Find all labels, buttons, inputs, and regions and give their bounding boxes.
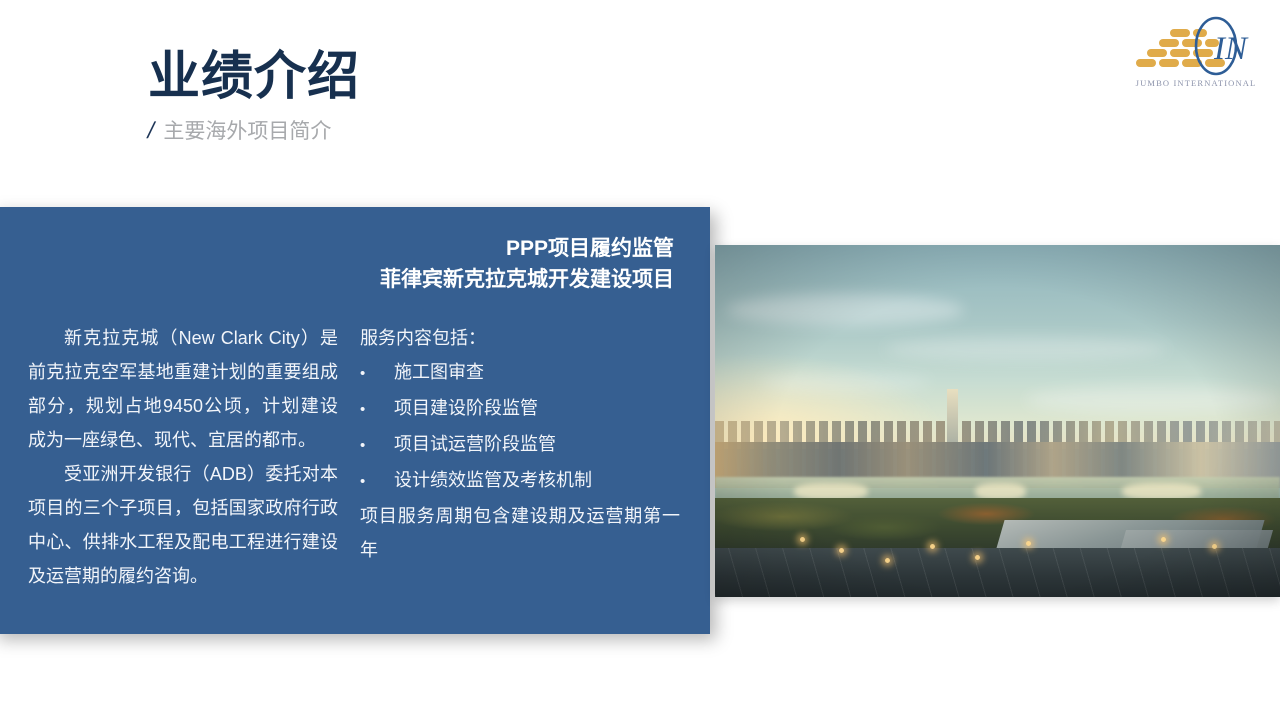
photo-plaza-paving [715,548,1280,597]
bullet-dot-icon: • [360,429,394,463]
card-left-column: 新克拉克城（New Clark City）是前克拉克空军基地重建计划的重要组成部… [28,321,338,593]
list-item: • 项目试运营阶段监管 [360,427,680,463]
list-item: • 项目建设阶段监管 [360,391,680,427]
company-logo: IN JUMBO INTERNATIONAL [1130,14,1262,106]
svg-text:IN: IN [1213,31,1249,67]
project-photo [715,245,1280,597]
project-info-card: PPP项目履约监管 菲律宾新克拉克城开发建设项目 新克拉克城（New Clark… [0,207,710,634]
bullet-dot-icon: • [360,393,394,427]
card-columns: 新克拉克城（New Clark City）是前克拉克空军基地重建计划的重要组成部… [28,321,682,593]
subtitle-slash-icon: / [145,116,157,144]
logo-mark-icon: IN [1130,14,1262,76]
photo-lamp [1026,541,1031,546]
photo-lamp [800,537,805,542]
photo-lamp [975,555,980,560]
photo-lamp [930,544,935,549]
photo-cloud [760,372,930,393]
services-lead-label: 服务内容包括： [360,321,680,355]
page-subtitle: / 主要海外项目简介 [148,116,708,146]
list-item: • 施工图审查 [360,355,680,391]
card-heading: PPP项目履约监管 菲律宾新克拉克城开发建设项目 [28,233,682,295]
photo-cloud [1026,386,1280,414]
bullet-dot-icon: • [360,465,394,499]
services-bullet-list: • 施工图审查 • 项目建设阶段监管 • 项目试运营阶段监管 • 设计绩效监管及… [360,355,680,499]
service-period-note: 项目服务周期包含建设期及运营期第一年 [360,499,680,567]
list-item-label: 项目建设阶段监管 [394,391,538,425]
photo-scene [715,245,1280,597]
photo-cloud [885,337,1168,362]
project-description-paragraph-1: 新克拉克城（New Clark City）是前克拉克空军基地重建计划的重要组成部… [28,321,338,457]
list-item-label: 项目试运营阶段监管 [394,427,556,461]
slide-header: 业绩介绍 / 主要海外项目简介 [148,48,708,146]
slide-root: 业绩介绍 / 主要海外项目简介 [0,0,1280,720]
project-description-paragraph-2: 受亚洲开发银行（ADB）委托对本项目的三个子项目，包括国家政府行政中心、供排水工… [28,457,338,593]
list-item-label: 设计绩效监管及考核机制 [394,463,592,497]
page-title: 业绩介绍 [148,48,708,106]
photo-cloud [726,294,963,326]
page-subtitle-text: 主要海外项目简介 [163,118,331,146]
photo-lamp [885,558,890,563]
card-heading-line-2: 菲律宾新克拉克城开发建设项目 [28,264,674,295]
list-item: • 设计绩效监管及考核机制 [360,463,680,499]
photo-plaza [715,548,1280,597]
list-item-label: 施工图审查 [394,355,484,389]
logo-caption: JUMBO INTERNATIONAL [1130,78,1262,88]
bullet-dot-icon: • [360,357,394,391]
card-right-column: 服务内容包括： • 施工图审查 • 项目建设阶段监管 • 项目试运营阶段监管 [360,321,680,567]
card-heading-line-1: PPP项目履约监管 [28,233,674,264]
